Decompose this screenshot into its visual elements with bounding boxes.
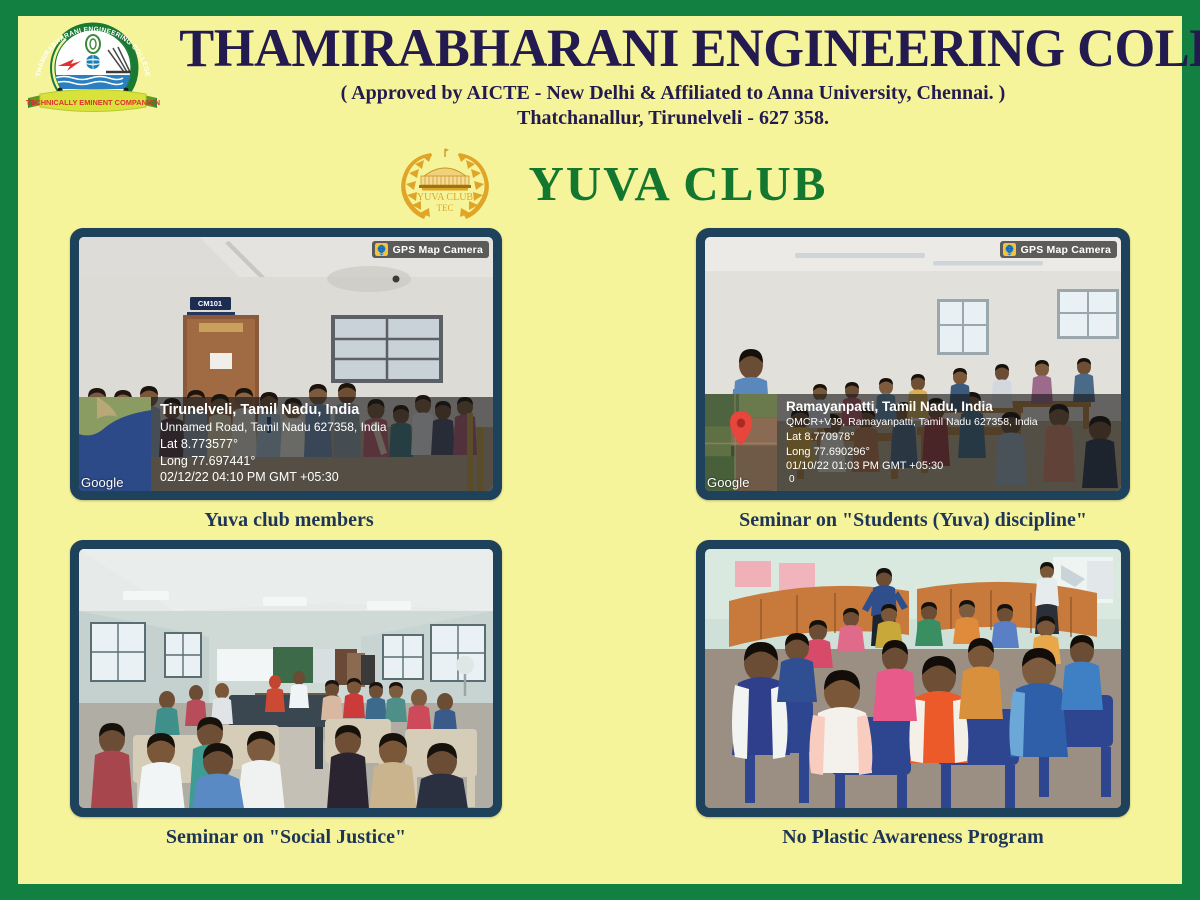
- photo-caption: Yuva club members: [70, 500, 502, 532]
- photo-auditorium-students: [705, 549, 1121, 808]
- photo-row-2: Seminar on "Social Justice": [70, 540, 1130, 849]
- gps-info-block: Tirunelveli, Tamil Nadu, India Unnamed R…: [151, 397, 493, 491]
- photo-caption: Seminar on "Social Justice": [70, 817, 502, 849]
- photo-group-classroom: CM101: [79, 237, 493, 491]
- club-title: YUVA CLUB: [529, 155, 828, 212]
- photo-frame[interactable]: GPS Map Camera: [696, 228, 1130, 500]
- gps-longitude: Long 77.690296°: [786, 445, 1115, 460]
- college-name-title: THAMIRABHARANI ENGINEERING COLLEGE: [179, 16, 1166, 77]
- gps-map-camera-badge: GPS Map Camera: [372, 241, 489, 258]
- svg-text:TECHNICALLY EMINENT COMPANION: TECHNICALLY EMINENT COMPANION: [26, 98, 160, 107]
- photo-frame[interactable]: [70, 540, 502, 817]
- gps-mini-map: Google: [705, 394, 777, 491]
- poster-canvas: THAMIRABHARANI ENGINEERING COLLEGE: [18, 16, 1182, 884]
- club-title-row: YUVA CLUB TEC YUVA CLUB: [18, 142, 1182, 224]
- gps-extra: 0: [786, 474, 1115, 486]
- approval-line: ( Approved by AICTE - New Delhi & Affili…: [164, 81, 1182, 106]
- photo-cell-students-yuva-discipline: GPS Map Camera: [696, 228, 1130, 532]
- gps-longitude: Long 77.697441°: [160, 453, 487, 470]
- photo-cell-social-justice: Seminar on "Social Justice": [70, 540, 502, 849]
- gps-latitude: Lat 8.770978°: [786, 430, 1115, 445]
- photo-frame[interactable]: CM101: [70, 228, 502, 500]
- gps-overlay-panel: Google Tirunelveli, Tamil Nadu, India Un…: [79, 397, 493, 491]
- gps-badge-label: GPS Map Camera: [393, 244, 483, 256]
- google-map-label: Google: [707, 475, 750, 490]
- gps-timestamp: 02/12/22 04:10 PM GMT +05:30: [160, 469, 487, 486]
- gps-badge-label: GPS Map Camera: [1021, 244, 1111, 256]
- photo-caption: No Plastic Awareness Program: [696, 817, 1130, 849]
- gps-place: Tirunelveli, Tamil Nadu, India: [160, 402, 487, 420]
- photo-classroom-seminar: GPS Map Camera: [705, 237, 1121, 491]
- address-line: Thatchanallur, Tirunelveli - 627 358.: [164, 106, 1182, 131]
- gps-timestamp: 01/10/22 01:03 PM GMT +05:30: [786, 459, 1115, 474]
- photo-row-1: CM101: [70, 228, 1130, 532]
- gps-address: QMCR+VJ9, Ramayanpatti, Tamil Nadu 62735…: [786, 416, 1115, 430]
- gps-info-block: Ramayanpatti, Tamil Nadu, India QMCR+VJ9…: [777, 394, 1121, 491]
- gps-map-camera-icon: [1003, 243, 1016, 256]
- gps-map-camera-badge: GPS Map Camera: [1000, 241, 1117, 258]
- college-logo: THAMIRABHARANI ENGINEERING COLLEGE: [20, 20, 165, 120]
- photo-frame[interactable]: [696, 540, 1130, 817]
- gps-mini-map: Google: [79, 397, 151, 491]
- gps-latitude: Lat 8.773577°: [160, 436, 487, 453]
- photo-cell-yuva-club-members: CM101: [70, 228, 502, 532]
- poster-header: THAMIRABHARANI ENGINEERING COLLEGE: [18, 16, 1182, 142]
- room-sign-label: CM101: [198, 299, 222, 308]
- emblem-line-2: TEC: [436, 203, 453, 213]
- gps-overlay-panel: Google Ramayanpatti, Tamil Nadu, India Q…: [705, 394, 1121, 491]
- emblem-line-1: YUVA CLUB: [416, 192, 473, 203]
- gps-address: Unnamed Road, Tamil Nadu 627358, India: [160, 420, 487, 436]
- photo-cell-no-plastic: No Plastic Awareness Program: [696, 540, 1130, 849]
- google-map-label: Google: [81, 475, 124, 490]
- yuva-club-emblem: YUVA CLUB TEC: [393, 145, 497, 221]
- photo-caption: Seminar on "Students (Yuva) discipline": [696, 500, 1130, 532]
- gps-place: Ramayanpatti, Tamil Nadu, India: [786, 399, 1115, 416]
- photo-hall-audience: [79, 549, 493, 808]
- gps-map-camera-icon: [375, 243, 388, 256]
- photo-grid: CM101: [18, 228, 1182, 849]
